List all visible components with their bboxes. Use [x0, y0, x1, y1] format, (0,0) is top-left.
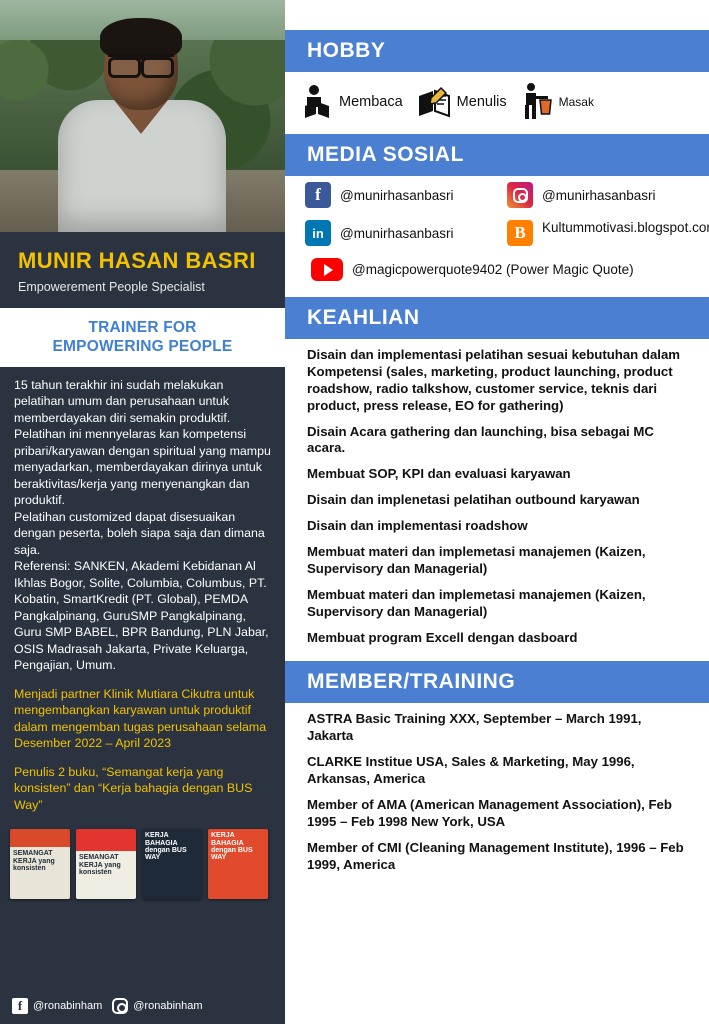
social-item-facebook[interactable]: f @munirhasanbasri [305, 182, 507, 208]
hobby-label: Masak [559, 95, 594, 109]
member-item: ASTRA Basic Training XXX, September – Ma… [307, 711, 691, 745]
trainer-line-2: EMPOWERING PEOPLE [6, 337, 279, 356]
trainer-line-1: TRAINER FOR [6, 318, 279, 337]
skill-item: Disain dan implementasi pelatihan sesuai… [307, 347, 691, 415]
hobby-label: Membaca [339, 94, 403, 110]
bottom-social-handle: @ronabinham [33, 1000, 102, 1012]
skill-item: Membuat materi dan implemetasi manajemen… [307, 544, 691, 578]
person-role: Empowerement People Specialist [18, 280, 269, 294]
name-block: MUNIR HASAN BASRI Empowerement People Sp… [0, 232, 285, 308]
skill-item: Membuat program Excell dengan dasboard [307, 630, 691, 647]
social-item-instagram[interactable]: @munirhasanbasri [507, 182, 709, 208]
trainer-banner: TRAINER FOR EMPOWERING PEOPLE [0, 308, 285, 367]
facebook-icon: f [305, 182, 331, 208]
profile-text: 15 tahun terakhir ini sudah melakukan pe… [0, 367, 285, 674]
book-cover: SEMANGAT KERJA yang konsisten [76, 829, 136, 899]
social-handle: @munirhasanbasri [542, 188, 656, 203]
skill-item: Disain Acara gathering dan launching, bi… [307, 424, 691, 458]
book-cover: KERJA BAHAGIA dengan BUS WAY [208, 829, 268, 899]
blogger-icon: B [507, 220, 533, 246]
social-row-1: f @munirhasanbasri @munirhasanbasri [285, 176, 709, 214]
reading-person-icon [303, 84, 333, 120]
hobby-section-title: HOBBY [285, 30, 709, 72]
skills-list: Disain dan implementasi pelatihan sesuai… [285, 339, 709, 661]
bottom-social-instagram[interactable]: @ronabinham [112, 998, 202, 1014]
social-item-youtube[interactable]: @magicpowerquote9402 (Power Magic Quote) [311, 258, 634, 281]
writing-book-icon [417, 86, 451, 118]
social-handle: @munirhasanbasri [340, 226, 454, 241]
top-spacer [285, 0, 709, 30]
book-title: KERJA BAHAGIA dengan BUS WAY [142, 829, 202, 864]
photo-person-glasses [108, 54, 174, 70]
skill-item: Membuat materi dan implemetasi manajemen… [307, 587, 691, 621]
book-covers: SEMANGAT KERJA yang konsisten SEMANGAT K… [0, 823, 285, 899]
member-list: ASTRA Basic Training XXX, September – Ma… [285, 703, 709, 888]
youtube-icon [311, 258, 343, 281]
social-handle: @magicpowerquote9402 (Power Magic Quote) [352, 262, 634, 277]
social-row-3: @magicpowerquote9402 (Power Magic Quote) [285, 252, 709, 287]
cooking-person-icon [523, 82, 553, 122]
hobby-items: Membaca Menulis Masak [285, 72, 709, 134]
member-item: CLARKE Institue USA, Sales & Marketing, … [307, 754, 691, 788]
photo-person [52, 18, 227, 232]
book-cover: SEMANGAT KERJA yang konsisten [10, 829, 70, 899]
bottom-social-handle: @ronabinham [133, 1000, 202, 1012]
hobby-item-menulis: Menulis [417, 86, 507, 118]
profile-paragraph-1: 15 tahun terakhir ini sudah melakukan pe… [14, 377, 271, 509]
person-name: MUNIR HASAN BASRI [18, 248, 269, 274]
profile-photo [0, 0, 285, 232]
book-title: KERJA BAHAGIA dengan BUS WAY [208, 829, 268, 864]
social-row-2: in @munirhasanbasri B Kultummotivasi.blo… [285, 214, 709, 252]
instagram-icon [507, 182, 533, 208]
book-title: SEMANGAT KERJA yang konsisten [76, 851, 136, 879]
social-section-title: MEDIA SOSIAL [285, 134, 709, 176]
profile-paragraph-2: Pelatihan customized dapat disesuaikan d… [14, 509, 271, 559]
profile-paragraph-3: Referensi: SANKEN, Akademi Kebidanan Al … [14, 558, 271, 674]
cv-page: MUNIR HASAN BASRI Empowerement People Sp… [0, 0, 709, 1024]
book-title: SEMANGAT KERJA yang konsisten [10, 847, 70, 875]
member-section-title: MEMBER/TRAINING [285, 661, 709, 703]
social-handle: Kultummotivasi.blogspot.com [542, 220, 702, 237]
right-column: HOBBY Membaca Menulis [285, 0, 709, 1024]
social-handle: @munirhasanbasri [340, 188, 454, 203]
skill-item: Disain dan implenetasi pelatihan outboun… [307, 492, 691, 509]
social-item-blogger[interactable]: B Kultummotivasi.blogspot.com [507, 220, 709, 246]
bottom-spacer [285, 889, 709, 1024]
hobby-item-membaca: Membaca [303, 84, 403, 120]
member-item: Member of CMI (Cleaning Management Insti… [307, 840, 691, 874]
highlight-partner: Menjadi partner Klinik Mutiara Cikutra u… [0, 686, 285, 752]
bottom-social-facebook[interactable]: f @ronabinham [12, 998, 102, 1014]
skill-item: Membuat SOP, KPI dan evaluasi karyawan [307, 466, 691, 483]
book-cover: KERJA BAHAGIA dengan BUS WAY [142, 829, 202, 899]
gap-1 [285, 287, 709, 297]
skills-section-title: KEAHLIAN [285, 297, 709, 339]
bottom-social-row: f @ronabinham @ronabinham [0, 990, 285, 1024]
facebook-icon: f [12, 998, 28, 1014]
linkedin-icon: in [305, 220, 331, 246]
member-item: Member of AMA (American Management Assoc… [307, 797, 691, 831]
hobby-item-masak: Masak [523, 82, 594, 122]
skill-item: Disain dan implementasi roadshow [307, 518, 691, 535]
social-item-linkedin[interactable]: in @munirhasanbasri [305, 220, 507, 246]
highlight-books: Penulis 2 buku, “Semangat kerja yang kon… [0, 764, 285, 814]
hobby-label: Menulis [457, 94, 507, 110]
left-column: MUNIR HASAN BASRI Empowerement People Sp… [0, 0, 285, 1024]
instagram-icon [112, 998, 128, 1014]
